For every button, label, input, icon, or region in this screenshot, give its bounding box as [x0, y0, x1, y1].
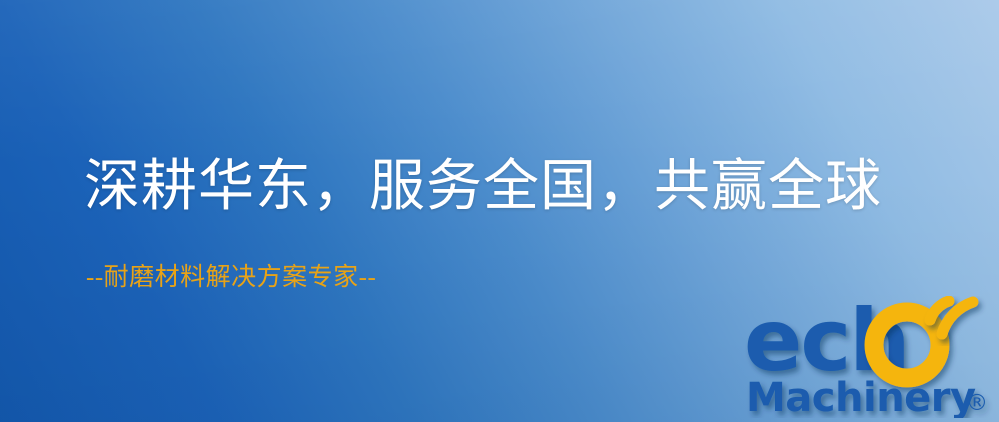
logo-tagline-icon: Machinery ®	[746, 375, 988, 418]
page-title: 深耕华东，服务全国，共赢全球	[84, 156, 882, 218]
hero-banner: 深耕华东，服务全国，共赢全球 --耐磨材料解决方案专家-- ech	[0, 0, 999, 422]
svg-text:Machinery: Machinery	[746, 375, 976, 418]
echo-machinery-logo[interactable]: ech Machinery ®	[744, 296, 996, 418]
page-subtitle: --耐磨材料解决方案专家--	[86, 263, 376, 293]
svg-text:®: ®	[966, 391, 988, 416]
